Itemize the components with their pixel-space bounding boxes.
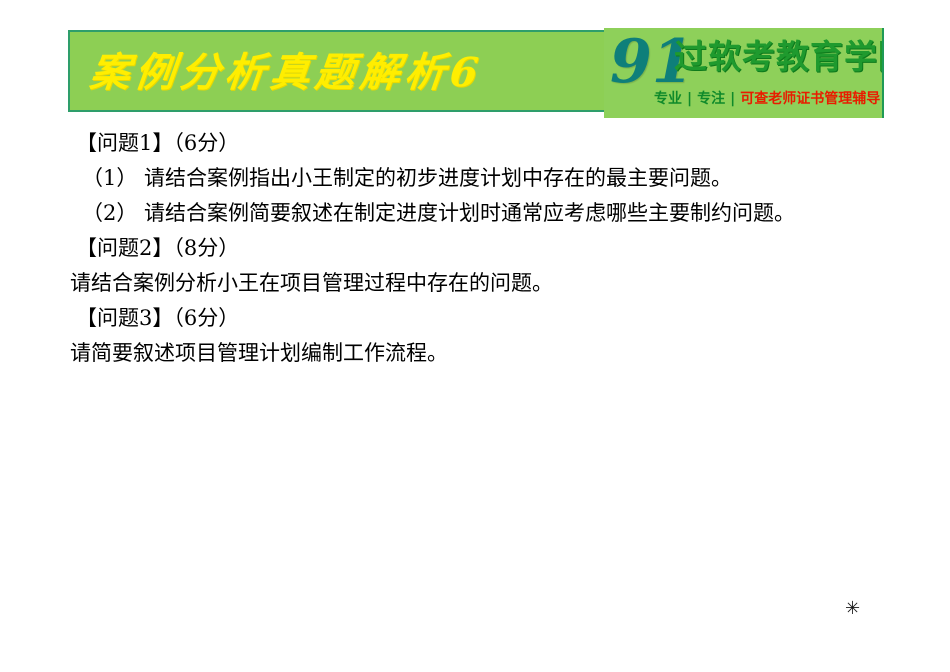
question-heading-3: 【问题3】（6分） xyxy=(68,301,928,336)
question-item-3-1: 请简要叙述项目管理计划编制工作流程。 xyxy=(68,336,928,371)
page-title: 案例分析真题解析6 xyxy=(86,38,593,108)
logo-main-text: 过软考教育学院 xyxy=(674,36,884,78)
logo-subtitle: 专业|专注|可查老师证书管理辅导 xyxy=(650,88,880,110)
question-item-2-1: 请结合案例分析小王在项目管理过程中存在的问题。 xyxy=(68,266,928,301)
logo-subtitle-left: 专业 xyxy=(650,91,686,107)
question-item-1-1: （1） 请结合案例指出小王制定的初步进度计划中存在的最主要问题。 xyxy=(68,161,928,196)
logo-subtitle-mid: 专注 xyxy=(693,91,729,107)
slide-canvas: 案例分析真题解析6 91 过软考教育学院 专业|专注|可查老师证书管理辅导 【问… xyxy=(0,0,950,672)
brand-logo: 91 过软考教育学院 专业|专注|可查老师证书管理辅导 xyxy=(604,28,884,118)
logo-subtitle-right: 可查老师证书管理辅导 xyxy=(736,91,880,107)
question-list: 【问题1】（6分） （1） 请结合案例指出小王制定的初步进度计划中存在的最主要问… xyxy=(68,126,928,371)
question-item-1-2: （2） 请结合案例简要叙述在制定进度计划时通常应考虑哪些主要制约问题。 xyxy=(68,196,928,231)
footer-asterisk-icon: ✳ xyxy=(845,600,860,618)
question-heading-2: 【问题2】（8分） xyxy=(68,231,928,266)
question-heading-1: 【问题1】（6分） xyxy=(68,126,928,161)
